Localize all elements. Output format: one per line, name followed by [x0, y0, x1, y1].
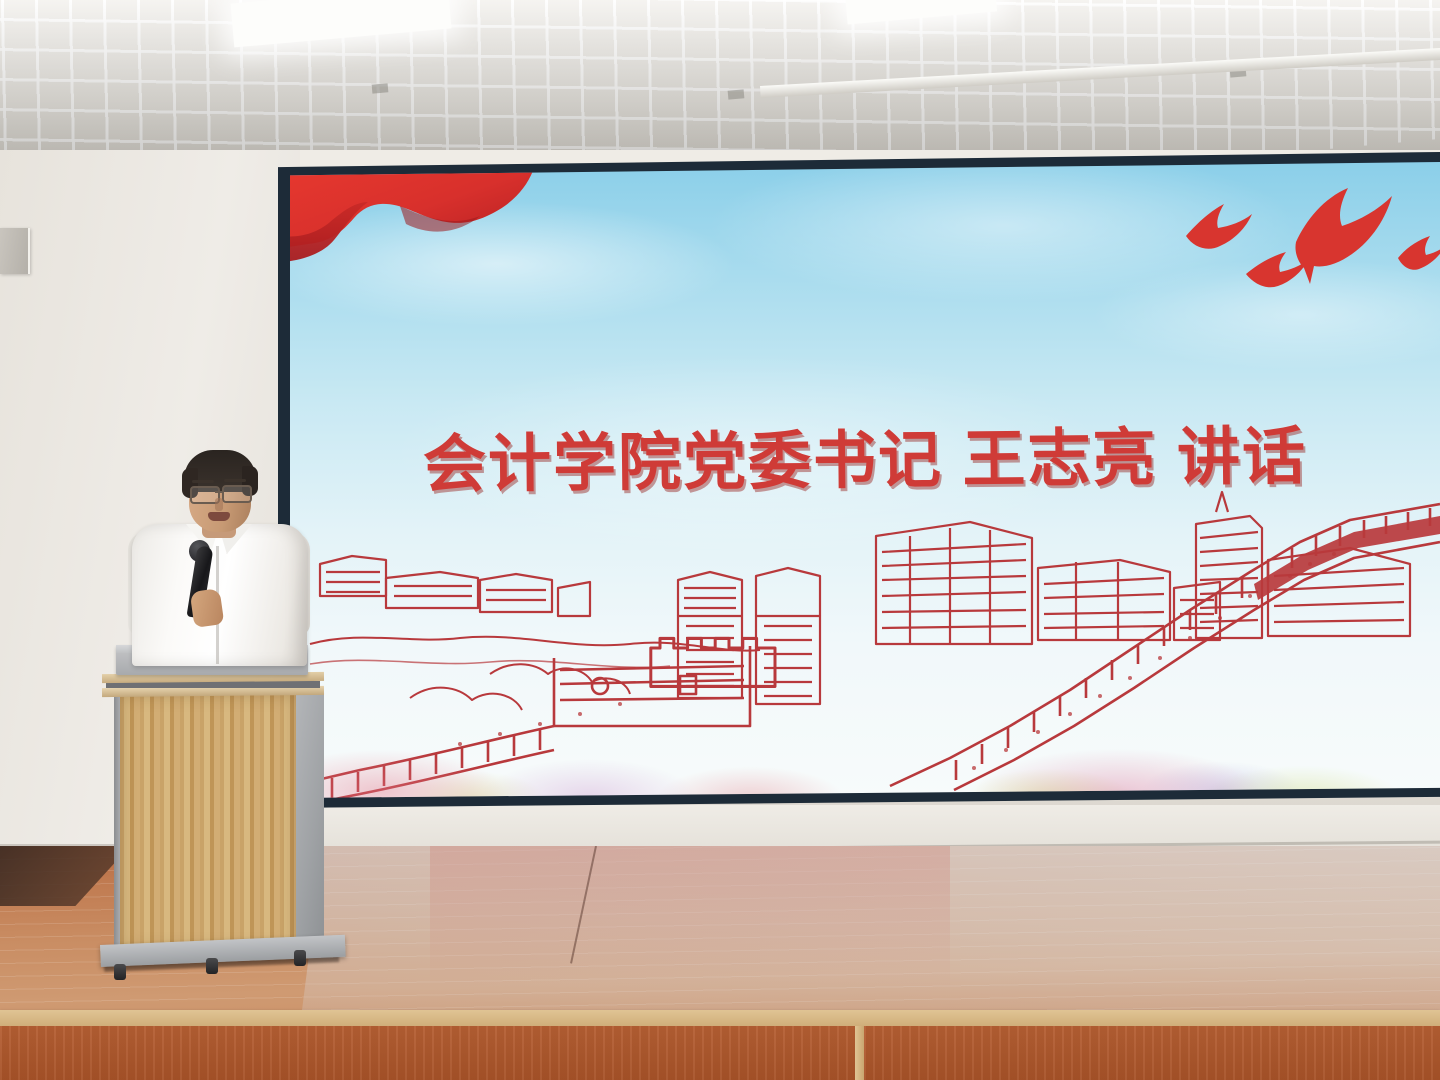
caster-wheel	[206, 958, 218, 974]
eyebrow-left	[192, 480, 214, 483]
stage-front-grain	[0, 1026, 1440, 1080]
stage-front-panel	[0, 1026, 1440, 1080]
speaker-at-podium	[132, 450, 307, 665]
bamboo-slat-panel	[120, 695, 296, 949]
screen-title: 会计学院党委书记 王志亮 讲话	[290, 405, 1440, 507]
wall-mounted-speaker	[0, 228, 30, 274]
led-display[interactable]: 会计学院党委书记 王志亮 讲话	[278, 152, 1440, 808]
flying-doves-icon	[1146, 170, 1440, 320]
eyeglasses-lens-right	[222, 485, 252, 503]
ceiling-vent-icon	[372, 83, 389, 93]
stage-front-seam	[855, 1026, 864, 1080]
mouth	[208, 512, 230, 521]
mobile-lectern[interactable]	[98, 645, 328, 985]
nose	[215, 498, 223, 511]
ceiling-vent-icon	[728, 89, 745, 99]
floor-reflection-warm	[430, 846, 950, 1026]
caster-wheel	[114, 964, 126, 980]
screen-content: 会计学院党委书记 王志亮 讲话	[290, 162, 1440, 798]
eyeglasses-bridge	[215, 491, 224, 493]
photo-scene: 会计学院党委书记 王志亮 讲话	[0, 0, 1440, 1080]
hand-holding-microphone	[190, 588, 225, 628]
caster-wheel	[294, 950, 306, 966]
red-flag-ribbon-icon	[290, 162, 602, 348]
eyebrow-right	[224, 479, 246, 482]
skyline-and-great-wall-illustration	[290, 468, 1440, 798]
